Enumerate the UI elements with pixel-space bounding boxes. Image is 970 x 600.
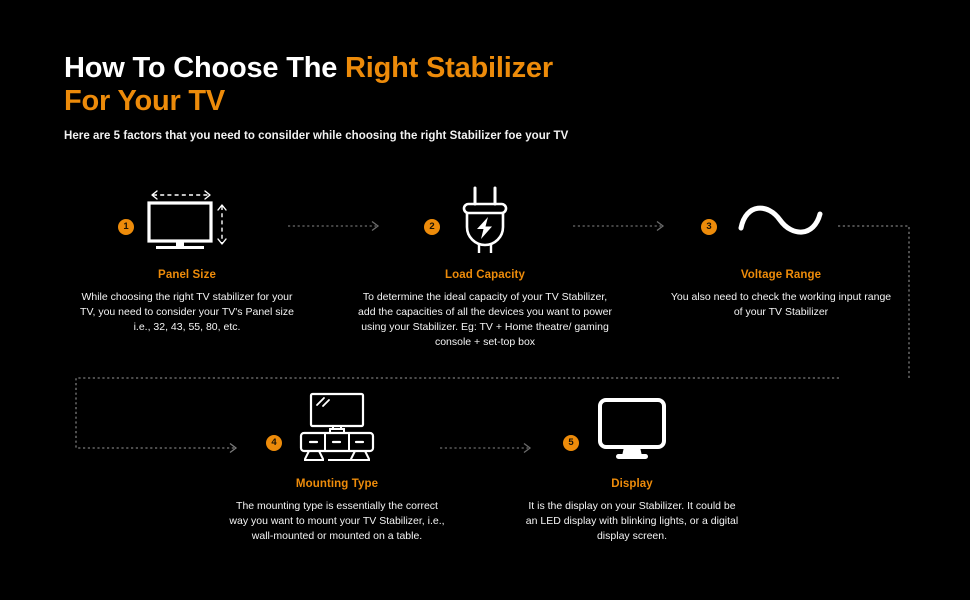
step-4-title: Mounting Type [228,478,446,490]
page-title: How To Choose The Right Stabilizer For Y… [64,52,924,118]
step-2-body: To determine the ideal capacity of your … [355,290,615,350]
step-3-title: Voltage Range [668,269,894,281]
step-4-body: The mounting type is essentially the cor… [228,499,446,544]
step-4: Mounting Type The mounting type is essen… [228,388,446,544]
step-3: Voltage Range You also need to check the… [668,185,894,320]
step-3-icon-wrap [668,185,894,255]
step-1-title: Panel Size [77,269,297,281]
title-line2-accent: For Your TV [64,85,225,117]
monitor-display-icon [592,394,672,462]
step-4-icon-wrap [228,388,446,464]
step-2-icon-wrap [355,185,615,255]
title-line1-accent: Right Stabilizer [345,52,553,84]
step-3-body: You also need to check the working input… [668,290,894,320]
sine-wave-icon [736,195,826,245]
infographic-canvas: How To Choose The Right Stabilizer For Y… [0,0,970,600]
power-plug-icon [452,184,518,256]
title-line1-plain: How To Choose The [64,52,345,84]
header: How To Choose The Right Stabilizer For Y… [64,52,924,142]
step-5-icon-wrap [525,392,739,464]
step-2-title: Load Capacity [355,269,615,281]
step-1-body: While choosing the right TV stabilizer f… [77,290,297,335]
step-1-icon-wrap [77,185,297,255]
tv-panel-size-icon [137,186,237,254]
step-2: Load Capacity To determine the ideal cap… [355,185,615,350]
step-5-body: It is the display on your Stabilizer. It… [525,499,739,544]
tv-cabinet-icon [295,390,379,462]
step-5: Display It is the display on your Stabil… [525,392,739,544]
step-5-title: Display [525,478,739,490]
page-subtitle: Here are 5 factors that you need to cons… [64,130,924,142]
step-1: Panel Size While choosing the right TV s… [77,185,297,335]
